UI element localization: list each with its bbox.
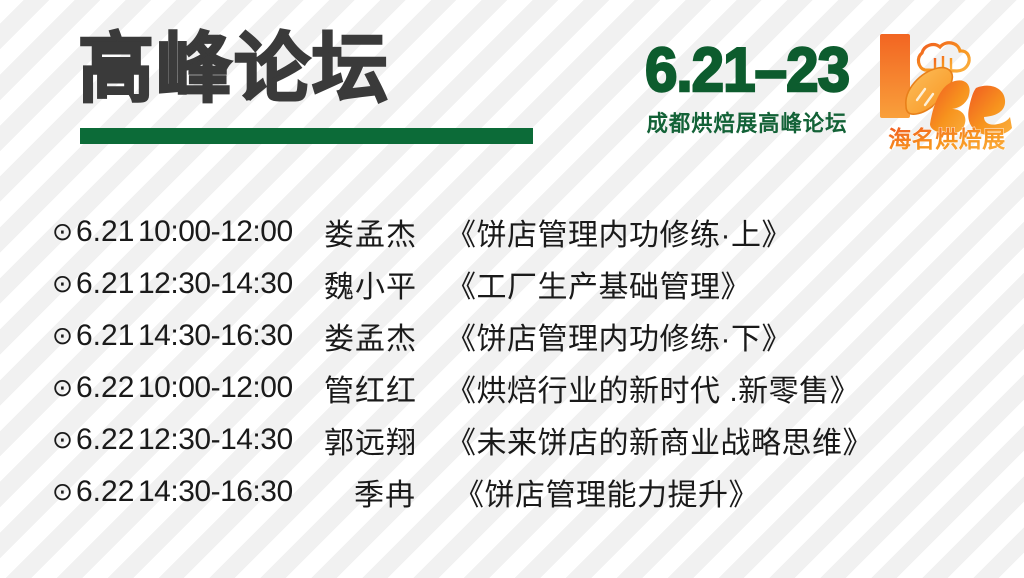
session-speaker: 娄孟杰: [324, 314, 446, 358]
session-title: 《饼店管理能力提升》: [454, 470, 759, 514]
session-time: 12:30-14:30: [138, 267, 324, 301]
list-item: ⊙ 6.21 12:30-14:30 魏小平 《工厂生产基础管理》: [0, 258, 1024, 310]
session-date: 6.22: [76, 371, 138, 405]
circle-dot-icon: ⊙: [52, 272, 76, 297]
forum-schedule-poster: 高峰论坛 6.21–23 成都烘焙展高峰论坛: [0, 0, 1024, 578]
list-item: ⊙ 6.21 14:30-16:30 娄孟杰 《饼店管理内功修练·下》: [0, 310, 1024, 362]
session-title: 《工厂生产基础管理》: [446, 262, 751, 306]
session-title: 《饼店管理内功修练·上》: [446, 210, 792, 254]
list-item: ⊙ 6.22 12:30-14:30 郭远翔 《未来饼店的新商业战略思维》: [0, 414, 1024, 466]
title-underline-bar: [80, 128, 533, 144]
session-title: 《饼店管理内功修练·下》: [446, 314, 792, 358]
circle-dot-icon: ⊙: [52, 324, 76, 349]
page-title: 高峰论坛: [78, 22, 390, 118]
session-speaker: 季冉: [324, 470, 454, 514]
circle-dot-icon: ⊙: [52, 480, 76, 505]
chef-hat-icon: [918, 43, 969, 71]
exhibition-logo: 海名烘焙展: [872, 28, 1022, 154]
session-speaker: 郭远翔: [324, 418, 446, 462]
session-time: 14:30-16:30: [138, 475, 324, 509]
logo-name-text: 海名烘焙展: [888, 126, 1006, 152]
session-time: 14:30-16:30: [138, 319, 324, 353]
event-subtitle: 成都烘焙展高峰论坛: [628, 110, 867, 138]
session-date: 6.22: [76, 475, 138, 509]
session-list: ⊙ 6.21 10:00-12:00 娄孟杰 《饼店管理内功修练·上》 ⊙ 6.…: [0, 206, 1024, 518]
event-date-range: 6.21–23: [631, 38, 862, 104]
session-date: 6.22: [76, 423, 138, 457]
list-item: ⊙ 6.21 10:00-12:00 娄孟杰 《饼店管理内功修练·上》: [0, 206, 1024, 258]
session-speaker: 娄孟杰: [324, 210, 446, 254]
session-time: 10:00-12:00: [138, 215, 324, 249]
circle-dot-icon: ⊙: [52, 428, 76, 453]
session-time: 10:00-12:00: [138, 371, 324, 405]
session-title: 《烘焙行业的新时代 .新零售》: [446, 366, 860, 410]
event-date-block: 6.21–23 成都烘焙展高峰论坛: [624, 38, 870, 138]
session-speaker: 魏小平: [324, 262, 446, 306]
circle-dot-icon: ⊙: [52, 376, 76, 401]
list-item: ⊙ 6.22 10:00-12:00 管红红 《烘焙行业的新时代 .新零售》: [0, 362, 1024, 414]
list-item: ⊙ 6.22 14:30-16:30 季冉 《饼店管理能力提升》: [0, 466, 1024, 518]
poster-header: 高峰论坛 6.21–23 成都烘焙展高峰论坛: [0, 0, 1024, 170]
session-speaker: 管红红: [324, 366, 446, 410]
session-date: 6.21: [76, 319, 138, 353]
session-date: 6.21: [76, 267, 138, 301]
session-date: 6.21: [76, 215, 138, 249]
session-time: 12:30-14:30: [138, 423, 324, 457]
session-title: 《未来饼店的新商业战略思维》: [446, 418, 873, 462]
circle-dot-icon: ⊙: [52, 220, 76, 245]
